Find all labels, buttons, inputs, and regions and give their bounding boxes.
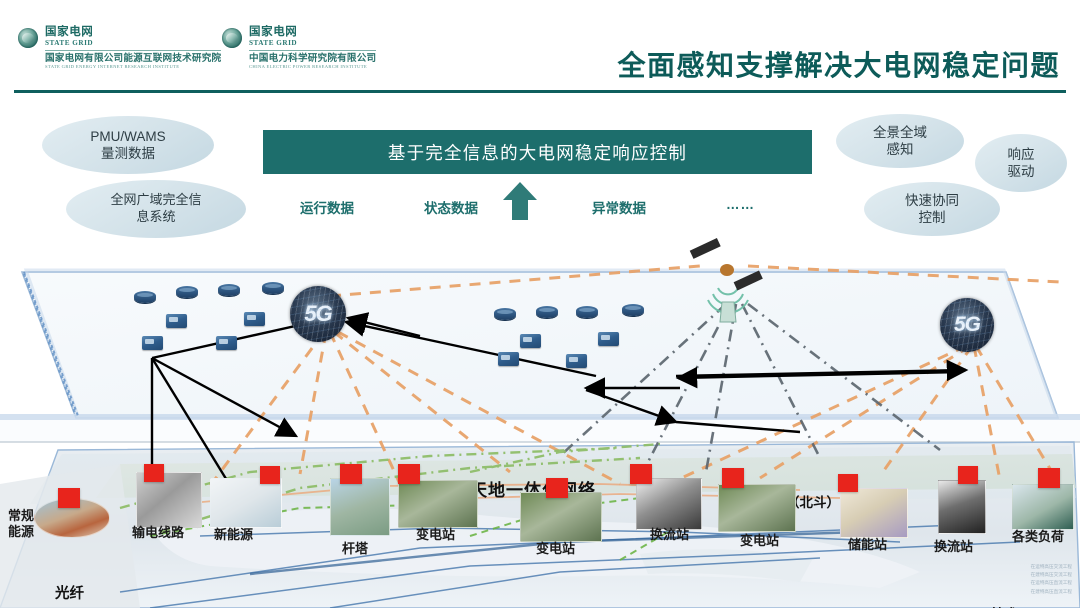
legend-item: 在运特高压直流工程: [1031, 579, 1072, 587]
router-icon: [494, 308, 516, 320]
marker-conventional-energy: [58, 488, 80, 508]
logo-state-grid-eiri: 国家电网 STATE GRID 国家电网有限公司能源互联网技术研究院 STATE…: [18, 27, 221, 69]
logo-name-en: STATE GRID: [45, 40, 221, 47]
fiveg-node-text: 5G: [954, 313, 980, 337]
label-line2: 能源: [8, 524, 34, 539]
bubble-line1: 响应: [1008, 147, 1035, 162]
logo-divider: [45, 50, 221, 51]
switch-icon: [142, 336, 163, 350]
router-icon: [134, 291, 156, 303]
label-tower: 杆塔: [342, 538, 368, 557]
marker-various-loads: [1038, 468, 1060, 488]
marker-substation-1: [398, 464, 420, 484]
switch-icon: [566, 354, 587, 368]
header-divider: [14, 90, 1066, 93]
marker-converter-station-1: [630, 464, 652, 484]
switch-icon: [166, 314, 187, 328]
bubble-wide-area-info: 全网广域完全信 息系统: [66, 180, 246, 238]
bubble-line2: 感知: [887, 142, 914, 157]
switch-icon: [498, 352, 519, 366]
label-various-loads: 各类负荷: [1012, 526, 1064, 545]
converter-station-2-image: [938, 480, 986, 534]
router-icon: [218, 284, 240, 296]
switch-icon: [520, 334, 541, 348]
bubble-line1: 全景全域: [873, 125, 927, 140]
energy-storage-station-image: [840, 488, 908, 538]
fiveg-node-text: 5G: [304, 301, 331, 327]
bubble-line2: 量测数据: [101, 146, 155, 161]
marker-converter-station-2: [958, 466, 978, 484]
up-arrow-icon: [500, 180, 540, 220]
control-banner: 基于完全信息的大电网稳定响应控制: [263, 130, 812, 174]
bubble-fast-coordinated-control: 快速协同 控制: [864, 182, 1000, 236]
state-grid-logo-icon: [18, 28, 38, 48]
page-title: 全面感知支撑解决大电网稳定问题: [617, 44, 1060, 84]
router-icon: [176, 286, 198, 298]
data-label-abnormal: 异常数据: [592, 197, 646, 217]
label-converter-station-1: 换流站: [650, 524, 689, 543]
bubble-line1: 全网广域完全信: [110, 192, 201, 207]
marker-new-energy: [260, 466, 280, 484]
bubble-line1: 快速协同: [905, 193, 959, 208]
marker-transmission-line: [144, 464, 164, 482]
data-label-operation: 运行数据: [300, 197, 354, 217]
logo-subtitle-cn: 国家电网有限公司能源互联网技术研究院: [45, 54, 221, 64]
router-icon: [576, 306, 598, 318]
legend-item: 在建特高压直流工程: [1031, 588, 1072, 596]
label-substation-3: 变电站: [740, 530, 779, 549]
bubble-line2: 息系统: [136, 209, 175, 224]
fiveg-tech-label: 5G技术: [973, 603, 1018, 608]
fiber-label: 光纤: [55, 582, 84, 603]
map-legend: 在运特高压交流工程 在建特高压交流工程 在运特高压直流工程 在建特高压直流工程: [1031, 563, 1072, 596]
logo-subtitle-en: CHINA ELECTRIC POWER RESEARCH INSTITUTE: [249, 65, 376, 70]
slide-header: 国家电网 STATE GRID 国家电网有限公司能源互联网技术研究院 STATE…: [0, 0, 1080, 92]
substation-3-image: [718, 484, 796, 532]
bubble-panoramic-sensing: 全景全域 感知: [836, 114, 964, 168]
marker-substation-2: [546, 478, 568, 498]
label-substation-1: 变电站: [416, 524, 455, 543]
data-label-state: 状态数据: [424, 197, 478, 217]
label-converter-station-2: 换流站: [934, 536, 973, 555]
various-loads-image: [1012, 484, 1074, 530]
bubble-line1: PMU/WAMS: [90, 129, 165, 144]
converter-station-1-image: [636, 478, 702, 530]
marker-energy-storage-station: [838, 474, 858, 492]
label-transmission-line: 输电线路: [132, 522, 184, 541]
router-icon: [622, 304, 644, 316]
switch-icon: [598, 332, 619, 346]
tower-image: [330, 478, 390, 536]
label-new-energy: 新能源: [214, 524, 253, 543]
network-scene: 空天地一体化网络 卫星（北斗） 光纤 WSN NB-IoT WSN （接入） 5…: [0, 236, 1080, 608]
legend-item: 在运特高压交流工程: [1031, 563, 1072, 571]
new-energy-image: [210, 478, 282, 528]
logo-divider: [249, 50, 376, 51]
label-line1: 常规: [8, 508, 34, 523]
slide-root: 国家电网 STATE GRID 国家电网有限公司能源互联网技术研究院 STATE…: [0, 0, 1080, 608]
bubble-response-driven: 响应 驱动: [975, 134, 1067, 192]
switch-icon: [244, 312, 265, 326]
fiveg-node-left-icon: 5G: [290, 286, 346, 342]
substation-1-image: [398, 480, 478, 528]
switch-icon: [216, 336, 237, 350]
router-icon: [262, 282, 284, 294]
bubble-line2: 控制: [919, 210, 946, 225]
label-energy-storage-station: 储能站: [848, 534, 887, 553]
label-substation-2: 变电站: [536, 538, 575, 557]
logo-subtitle-cn: 中国电力科学研究院有限公司: [249, 54, 376, 64]
legend-item: 在建特高压交流工程: [1031, 571, 1072, 579]
fiveg-node-right-icon: 5G: [940, 298, 994, 352]
bubble-line2: 驱动: [1008, 164, 1035, 179]
substation-2-image: [520, 492, 602, 542]
logo-name-en: STATE GRID: [249, 40, 376, 47]
marker-substation-3: [722, 468, 744, 488]
label-conventional-energy: 常规 能源: [8, 508, 34, 539]
marker-tower: [340, 464, 362, 484]
logo-name-cn: 国家电网: [45, 27, 221, 39]
logo-subtitle-en: STATE GRID ENERGY INTERNET RESEARCH INST…: [45, 65, 221, 70]
logo-state-grid-cepri: 国家电网 STATE GRID 中国电力科学研究院有限公司 CHINA ELEC…: [222, 27, 376, 69]
bubble-pmu-wams: PMU/WAMS 量测数据: [42, 116, 214, 174]
state-grid-logo-icon: [222, 28, 242, 48]
router-icon: [536, 306, 558, 318]
logo-name-cn: 国家电网: [249, 27, 376, 39]
data-label-ellipsis: ……: [726, 197, 755, 212]
